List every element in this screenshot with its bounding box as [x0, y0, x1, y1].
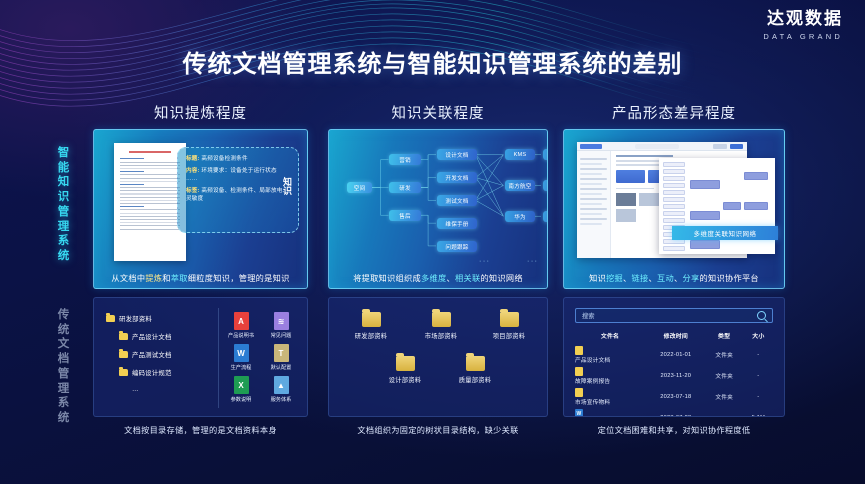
file-name-cell: 故障案例报告 [575, 367, 645, 385]
file-type-icon: T [274, 344, 289, 362]
knowledge-row-title-text: 高频设备检测条件 [201, 156, 247, 162]
search-icon[interactable] [757, 311, 766, 320]
mindmap-node-root[interactable]: 空间 [347, 182, 372, 193]
slide-canvas: 达观数据 DATA GRAND 传统文档管理系统与智能知识管理系统的差别 知识提… [0, 0, 865, 484]
table-row[interactable]: 产品设计文档2022-01-01文件夹- [575, 344, 775, 365]
file-type-icon: W [234, 344, 249, 362]
mindmap-node-l2-0[interactable]: 营销 [389, 154, 421, 165]
file-name-cell: 市场宣传物料 [575, 388, 645, 406]
network-label-badge: 多维度关联知识网络 [672, 226, 778, 240]
tree-item[interactable]: … [106, 386, 214, 393]
mindmap-node-l2-2[interactable]: 售后 [389, 210, 421, 221]
search-input[interactable]: 搜索 [575, 308, 773, 323]
mindmap-ellipsis-0: ··· [479, 258, 491, 265]
mindmap-node-l4-1[interactable]: 南方航空 [505, 180, 535, 191]
file-item-label: 默认配置 [266, 364, 296, 371]
file-type-cell: 文件夹 [707, 386, 742, 407]
file-type-cell: 文档 [707, 408, 742, 417]
file-type-icon [575, 346, 583, 355]
bottom-caption-3: 定位文档困难和共享，对知识协作程度低 [563, 424, 785, 436]
mindmap-node-l3-3[interactable]: 维保手册 [437, 218, 477, 229]
file-type-icon: ≋ [274, 312, 289, 330]
file-item[interactable]: A产品说明书 [226, 312, 256, 339]
knowledge-row-title: 标题: 高频设备检测条件 [186, 155, 290, 163]
tree-item-label: 产品设计文档 [132, 332, 172, 341]
folder-icon [500, 312, 519, 327]
table-row[interactable]: 市场宣传物料2023-07-18文件夹- [575, 386, 775, 407]
department-folder[interactable]: 项目部资料 [481, 312, 537, 340]
table-row[interactable]: W平台改造需求2023-07-28文档5.1M [575, 408, 775, 417]
folder-icon [119, 351, 128, 358]
top-caption-2: 将提取知识组织成多维度、相关联的知识网络 [329, 272, 547, 284]
knowledge-row-tags-text: 高频设备、检测条件、局部放电、灵敏度 [186, 188, 288, 202]
mindmap-node-l4-2[interactable]: 华为 [505, 211, 535, 222]
mindmap-node-l3-1[interactable]: 开发文档 [437, 172, 477, 183]
document-thumbnail [114, 143, 186, 261]
column-header-3: 产品形态差异程度 [563, 102, 785, 123]
folder-tree: 研发部资料产品设计文档产品测试文档编码设计规范… [106, 314, 214, 402]
brand-name-cn: 达观数据 [763, 10, 843, 29]
folder-icon [119, 333, 128, 340]
file-size-cell: 5.1M [742, 408, 775, 417]
mindmap-nodes: 空间营销研发售后设计文档开发文档测试文档维保手册问题跟踪KMS南方航空华为产品项… [329, 130, 547, 288]
file-table-header: 文件名 [575, 329, 645, 344]
file-item[interactable]: T默认配置 [266, 344, 296, 371]
department-folder[interactable]: 市场部资料 [413, 312, 469, 340]
file-item[interactable]: ▲服务体系 [266, 376, 296, 403]
mindmap-node-l2-1[interactable]: 研发 [389, 182, 421, 193]
tree-item[interactable]: 研发部资料 [106, 314, 214, 323]
department-folder-label: 市场部资料 [413, 331, 469, 340]
top-caption-3: 知识挖掘、链接、互动、分享的知识协作平台 [564, 272, 784, 284]
page-title: 传统文档管理系统与智能知识管理系统的差别 [0, 44, 865, 79]
department-folder-label: 设计部资料 [377, 375, 433, 384]
folder-icon [106, 315, 115, 322]
folder-icon [362, 312, 381, 327]
search-placeholder: 搜索 [582, 311, 757, 320]
tree-item[interactable]: 编码设计规范 [106, 368, 214, 377]
knowledge-row-tags-label: 标签: [186, 188, 200, 194]
file-item-label: 常见问题 [266, 332, 296, 339]
mindmap-node-l4-0[interactable]: KMS [505, 149, 535, 160]
department-folder-list: 研发部资料市场部资料项目部资料设计部资料质量部资料 [329, 298, 547, 416]
file-item-label: 参数说明 [226, 396, 256, 403]
file-name-cell: W平台改造需求 [575, 409, 645, 417]
file-table-header: 大小 [742, 329, 775, 344]
file-table-header-row: 文件名修改时间类型大小 [575, 329, 775, 344]
divider [218, 308, 219, 408]
file-type-icon: W [575, 409, 583, 417]
bottom-caption-2: 文档组织为固定的树状目录结构，缺少关联 [328, 424, 548, 436]
panel-file-list: 搜索 文件名修改时间类型大小 产品设计文档2022-01-01文件夹-故障案例报… [563, 297, 785, 417]
knowledge-badge: 知识 [283, 178, 292, 197]
file-table: 文件名修改时间类型大小 产品设计文档2022-01-01文件夹-故障案例报告20… [575, 329, 775, 417]
file-type-icon [575, 388, 583, 397]
side-label-smart-system: 智能知识管理系统 [52, 146, 76, 264]
file-type-cell: 文件夹 [707, 365, 742, 386]
file-table-header: 类型 [707, 329, 742, 344]
department-folder[interactable]: 质量部资料 [447, 356, 503, 384]
department-folder[interactable]: 设计部资料 [377, 356, 433, 384]
folder-icon [396, 356, 415, 371]
file-type-icon: X [234, 376, 249, 394]
file-date-cell: 2023-07-18 [645, 386, 707, 407]
panel-folder-tree: 研发部资料产品设计文档产品测试文档编码设计规范… A产品说明书≋常见问题W生产流… [93, 297, 308, 417]
file-type-icon: ▲ [274, 376, 289, 394]
brand-logo: 达观数据 DATA GRAND [763, 10, 843, 41]
tree-item-label: 编码设计规范 [132, 368, 172, 377]
file-type-cell: 文件夹 [707, 344, 742, 365]
file-item-label: 产品说明书 [226, 332, 256, 339]
file-size-cell: - [742, 344, 775, 365]
panel-knowledge-extraction: 标题: 高频设备检测条件 内容: 环境要求：设备处于运行状态 …… 标签: 高频… [93, 129, 308, 289]
file-item[interactable]: X参数说明 [226, 376, 256, 403]
mindmap-node-l3-4[interactable]: 问题跟踪 [437, 241, 477, 252]
column-header-2: 知识关联程度 [328, 102, 548, 123]
file-type-icon: A [234, 312, 249, 330]
column-header-1: 知识提炼程度 [93, 102, 308, 123]
file-item-label: 服务体系 [266, 396, 296, 403]
knowledge-row-content-text: 环境要求：设备处于运行状态 …… [186, 168, 277, 182]
file-item-label: 生产流程 [226, 364, 256, 371]
mindmap-node-l3-2[interactable]: 测试文档 [437, 195, 477, 206]
knowledge-row-content-label: 内容: [186, 168, 200, 174]
file-item[interactable]: W生产流程 [226, 344, 256, 371]
file-date-cell: 2023-11-20 [645, 365, 707, 386]
folder-icon [466, 356, 485, 371]
mindmap-node-l3-0[interactable]: 设计文档 [437, 149, 477, 160]
panel-department-folders: 研发部资料市场部资料项目部资料设计部资料质量部资料 [328, 297, 548, 417]
file-icon-grid: A产品说明书≋常见问题W生产流程T默认配置X参数说明▲服务体系 [226, 312, 302, 403]
file-date-cell: 2022-01-01 [645, 344, 707, 365]
panel-knowledge-network: 空间营销研发售后设计文档开发文档测试文档维保手册问题跟踪KMS南方航空华为产品项… [328, 129, 548, 289]
file-date-cell: 2023-07-28 [645, 408, 707, 417]
table-row[interactable]: 故障案例报告2023-11-20文件夹- [575, 365, 775, 386]
file-size-cell: - [742, 365, 775, 386]
department-folder-label: 质量部资料 [447, 375, 503, 384]
file-table-header: 修改时间 [645, 329, 707, 344]
knowledge-row-title-label: 标题: [186, 156, 200, 162]
knowledge-row-tags: 标签: 高频设备、检测条件、局部放电、灵敏度 [186, 187, 290, 203]
department-folder-label: 项目部资料 [481, 331, 537, 340]
knowledge-row-content: 内容: 环境要求：设备处于运行状态 …… [186, 167, 290, 183]
side-label-traditional-system: 传统文档管理系统 [52, 308, 76, 426]
tree-item[interactable]: 产品测试文档 [106, 350, 214, 359]
top-caption-1: 从文档中提炼和萃取细粒度知识，管理的是知识 [94, 272, 307, 284]
file-table-body: 产品设计文档2022-01-01文件夹-故障案例报告2023-11-20文件夹-… [575, 344, 775, 417]
file-name-cell: 产品设计文档 [575, 346, 645, 364]
department-folder-label: 研发部资料 [343, 331, 399, 340]
extracted-knowledge-card: 标题: 高频设备检测条件 内容: 环境要求：设备处于运行状态 …… 标签: 高频… [177, 147, 299, 233]
mindmap-ellipsis-1: ··· [527, 258, 539, 265]
tree-item-label: … [132, 386, 139, 393]
panel-product-form: 多维度关联知识网络 知识挖掘、链接、互动、分享的知识协作平台 [563, 129, 785, 289]
mindmap-node-l5-2[interactable]: 区域 [543, 211, 548, 222]
file-item[interactable]: ≋常见问题 [266, 312, 296, 339]
brand-name-en: DATA GRAND [763, 32, 843, 41]
tree-item-label: 产品测试文档 [132, 350, 172, 359]
mindmap-node-l5-1[interactable]: 项目 [543, 180, 548, 191]
tree-item-label: 研发部资料 [119, 314, 152, 323]
folder-icon [432, 312, 451, 327]
bottom-caption-1: 文档按目录存储，管理的是文档资料本身 [93, 424, 308, 436]
folder-icon [119, 369, 128, 376]
file-size-cell: - [742, 386, 775, 407]
tree-item[interactable]: 产品设计文档 [106, 332, 214, 341]
department-folder[interactable]: 研发部资料 [343, 312, 399, 340]
mindmap-node-l5-0[interactable]: 产品 [543, 149, 548, 160]
file-type-icon [575, 367, 583, 376]
